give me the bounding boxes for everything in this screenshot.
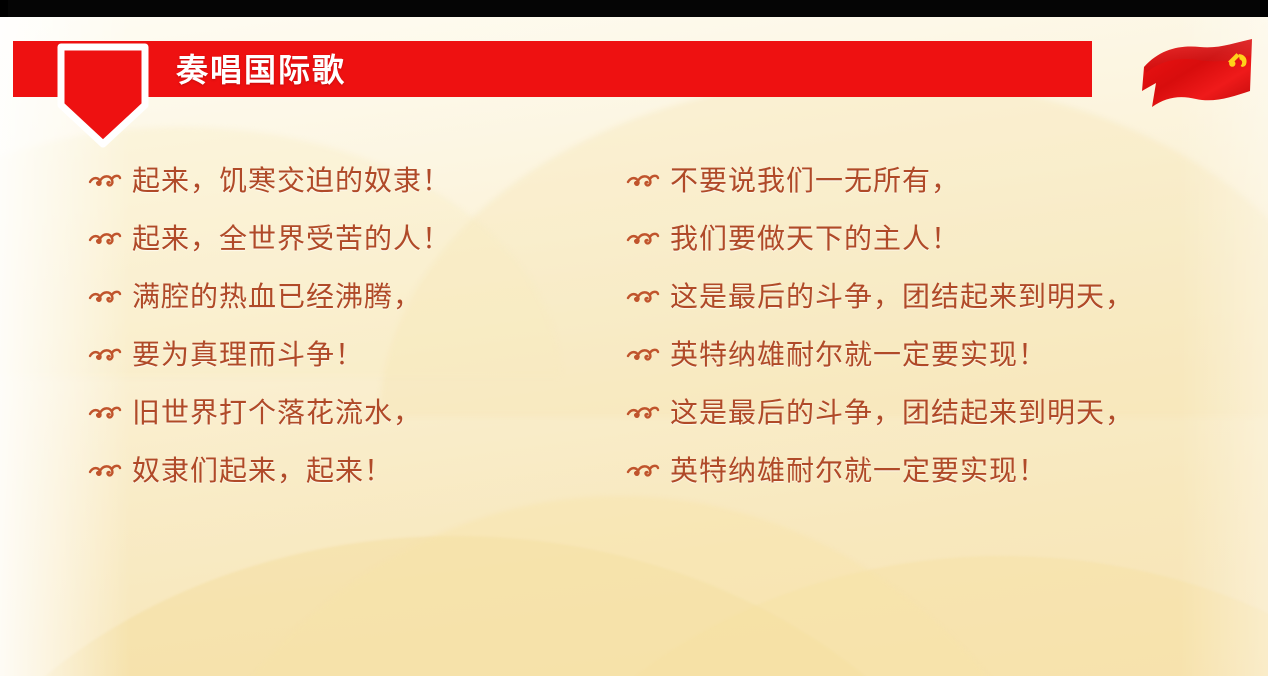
lyric-line: 这是最后的斗争，团结起来到明天， bbox=[626, 266, 1246, 324]
lyrics-area: 起来，饥寒交迫的奴隶！ 起来，全世界受苦的人！ bbox=[0, 150, 1268, 580]
cloud-swirl-bullet-icon bbox=[626, 168, 664, 190]
lyric-text: 起来，全世界受苦的人！ bbox=[132, 217, 451, 257]
cloud-swirl-bullet-icon bbox=[626, 284, 664, 306]
lyrics-column-left: 起来，饥寒交迫的奴隶！ 起来，全世界受苦的人！ bbox=[88, 150, 608, 498]
title-banner bbox=[13, 41, 1092, 97]
lyric-text: 英特纳雄耐尔就一定要实现！ bbox=[670, 449, 1047, 489]
lyric-text: 满腔的热血已经沸腾， bbox=[132, 275, 422, 315]
cloud-swirl-bullet-icon bbox=[88, 458, 126, 480]
top-black-bar bbox=[0, 0, 1268, 17]
red-pennant-icon bbox=[57, 43, 149, 148]
lyric-line: 旧世界打个落花流水， bbox=[88, 382, 608, 440]
lyric-line: 英特纳雄耐尔就一定要实现！ bbox=[626, 440, 1246, 498]
lyric-text: 这是最后的斗争，团结起来到明天， bbox=[670, 275, 1134, 315]
slide-root: 奏唱国际歌 bbox=[0, 0, 1268, 676]
lyric-line: 满腔的热血已经沸腾， bbox=[88, 266, 608, 324]
lyric-line: 英特纳雄耐尔就一定要实现！ bbox=[626, 324, 1246, 382]
lyric-text: 旧世界打个落花流水， bbox=[132, 391, 422, 431]
lyric-text: 不要说我们一无所有， bbox=[670, 159, 960, 199]
lyric-line: 起来，全世界受苦的人！ bbox=[88, 208, 608, 266]
lyric-line: 要为真理而斗争！ bbox=[88, 324, 608, 382]
lyric-text: 奴隶们起来，起来！ bbox=[132, 449, 393, 489]
lyric-text: 这是最后的斗争，团结起来到明天， bbox=[670, 391, 1134, 431]
cloud-swirl-bullet-icon bbox=[626, 226, 664, 248]
cloud-swirl-bullet-icon bbox=[626, 400, 664, 422]
cloud-swirl-bullet-icon bbox=[88, 168, 126, 190]
lyric-line: 起来，饥寒交迫的奴隶！ bbox=[88, 150, 608, 208]
top-black-bar-inner bbox=[8, 0, 1260, 17]
lyric-line: 这是最后的斗争，团结起来到明天， bbox=[626, 382, 1246, 440]
lyric-text: 英特纳雄耐尔就一定要实现！ bbox=[670, 333, 1047, 373]
lyrics-column-right: 不要说我们一无所有， 我们要做天下的主人！ bbox=[626, 150, 1246, 498]
lyric-line: 不要说我们一无所有， bbox=[626, 150, 1246, 208]
cloud-swirl-bullet-icon bbox=[626, 458, 664, 480]
cloud-swirl-bullet-icon bbox=[88, 400, 126, 422]
lyric-line: 我们要做天下的主人！ bbox=[626, 208, 1246, 266]
cloud-swirl-bullet-icon bbox=[626, 342, 664, 364]
lyric-text: 我们要做天下的主人！ bbox=[670, 217, 960, 257]
cpc-flag-icon bbox=[1138, 33, 1258, 129]
cloud-swirl-bullet-icon bbox=[88, 226, 126, 248]
cloud-swirl-bullet-icon bbox=[88, 284, 126, 306]
lyric-text: 要为真理而斗争！ bbox=[132, 333, 364, 373]
cloud-swirl-bullet-icon bbox=[88, 342, 126, 364]
lyric-line: 奴隶们起来，起来！ bbox=[88, 440, 608, 498]
lyric-text: 起来，饥寒交迫的奴隶！ bbox=[132, 159, 451, 199]
page-title: 奏唱国际歌 bbox=[176, 47, 346, 93]
slide-header: 奏唱国际歌 bbox=[0, 17, 1268, 137]
